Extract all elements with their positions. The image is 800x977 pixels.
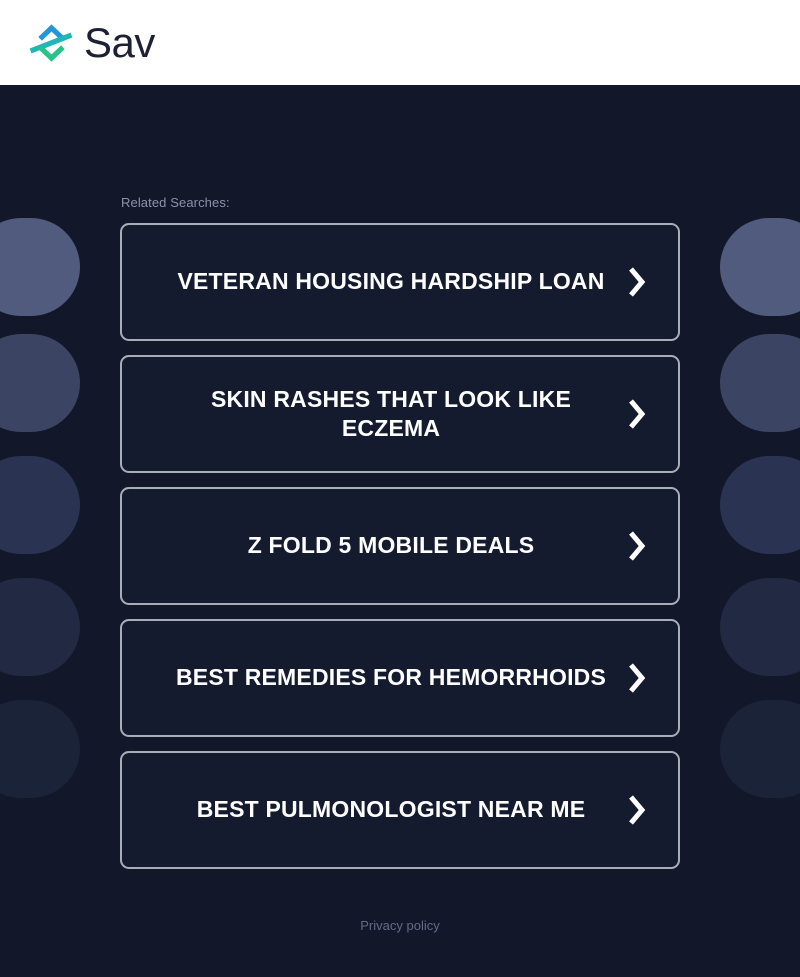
search-card[interactable]: SKIN RASHES THAT LOOK LIKE ECZEMA [120, 355, 680, 473]
site-footer: Privacy policy [120, 917, 680, 935]
search-card-label: BEST REMEDIES FOR HEMORRHOIDS [176, 663, 606, 692]
chevron-right-icon [626, 397, 648, 431]
search-card[interactable]: Z FOLD 5 MOBILE DEALS [120, 487, 680, 605]
decorative-pill [0, 218, 80, 316]
chevron-right-icon [626, 793, 648, 827]
main-content: Related Searches: VETERAN HOUSING HARDSH… [120, 85, 680, 935]
decorative-pill [0, 456, 80, 554]
decorative-pill [0, 578, 80, 676]
brand-wordmark: Sav [84, 22, 155, 64]
related-searches-label: Related Searches: [120, 195, 680, 210]
decorative-pill [720, 456, 800, 554]
privacy-policy-link[interactable]: Privacy policy [360, 918, 439, 933]
decorative-pill [720, 334, 800, 432]
search-card[interactable]: BEST REMEDIES FOR HEMORRHOIDS [120, 619, 680, 737]
search-card[interactable]: BEST PULMONOLOGIST NEAR ME [120, 751, 680, 869]
decorative-pill [0, 334, 80, 432]
sav-logo-icon [28, 20, 74, 66]
chevron-right-icon [626, 265, 648, 299]
search-card-label: SKIN RASHES THAT LOOK LIKE ECZEMA [166, 385, 616, 443]
decorative-pill [720, 700, 800, 798]
site-header: Sav [0, 0, 800, 85]
search-card-label: Z FOLD 5 MOBILE DEALS [248, 531, 535, 560]
page-body: Related Searches: VETERAN HOUSING HARDSH… [0, 85, 800, 977]
decorative-pill [0, 700, 80, 798]
decorative-pill [720, 218, 800, 316]
chevron-right-icon [626, 661, 648, 695]
chevron-right-icon [626, 529, 648, 563]
search-card[interactable]: VETERAN HOUSING HARDSHIP LOAN [120, 223, 680, 341]
search-card-label: BEST PULMONOLOGIST NEAR ME [197, 795, 586, 824]
search-card-label: VETERAN HOUSING HARDSHIP LOAN [177, 267, 604, 296]
brand-logo[interactable]: Sav [28, 20, 155, 66]
decorative-pill [720, 578, 800, 676]
